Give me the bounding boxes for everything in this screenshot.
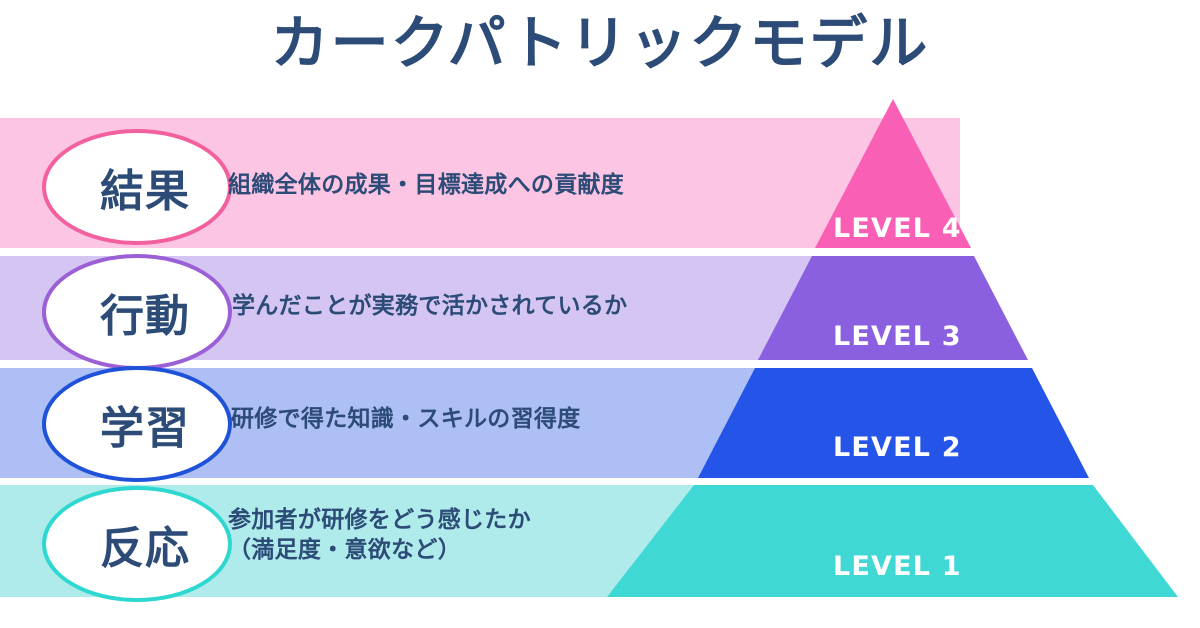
description-level-3: 学んだことが実務で活かされているか	[232, 291, 627, 321]
badge-level-4: 結果	[42, 129, 232, 245]
level-caption-4: LEVEL 4	[833, 213, 962, 244]
badge-label-level-3: 行動	[100, 280, 190, 344]
badge-label-level-4: 結果	[100, 155, 190, 219]
level-caption-2: LEVEL 2	[833, 432, 962, 463]
description-level-2: 研修で得た知識・スキルの習得度	[231, 404, 581, 434]
badge-level-3: 行動	[42, 254, 232, 370]
level-caption-3: LEVEL 3	[833, 321, 962, 352]
badge-level-2: 学習	[42, 366, 232, 482]
kirkpatrick-model-infographic: カークパトリックモデル LEVEL 4 LEVEL 3 LEVEL 2 LEVE…	[0, 0, 1200, 628]
page-title: カークパトリックモデル	[0, 12, 1200, 76]
description-level-1: 参加者が研修をどう感じたか （満足度・意欲など）	[228, 505, 531, 566]
badge-label-level-1: 反応	[100, 512, 190, 576]
description-level-4: 組織全体の成果・目標達成への貢献度	[228, 170, 624, 200]
level-caption-1: LEVEL 1	[833, 551, 962, 582]
badge-label-level-2: 学習	[100, 392, 190, 456]
badge-level-1: 反応	[42, 486, 232, 602]
